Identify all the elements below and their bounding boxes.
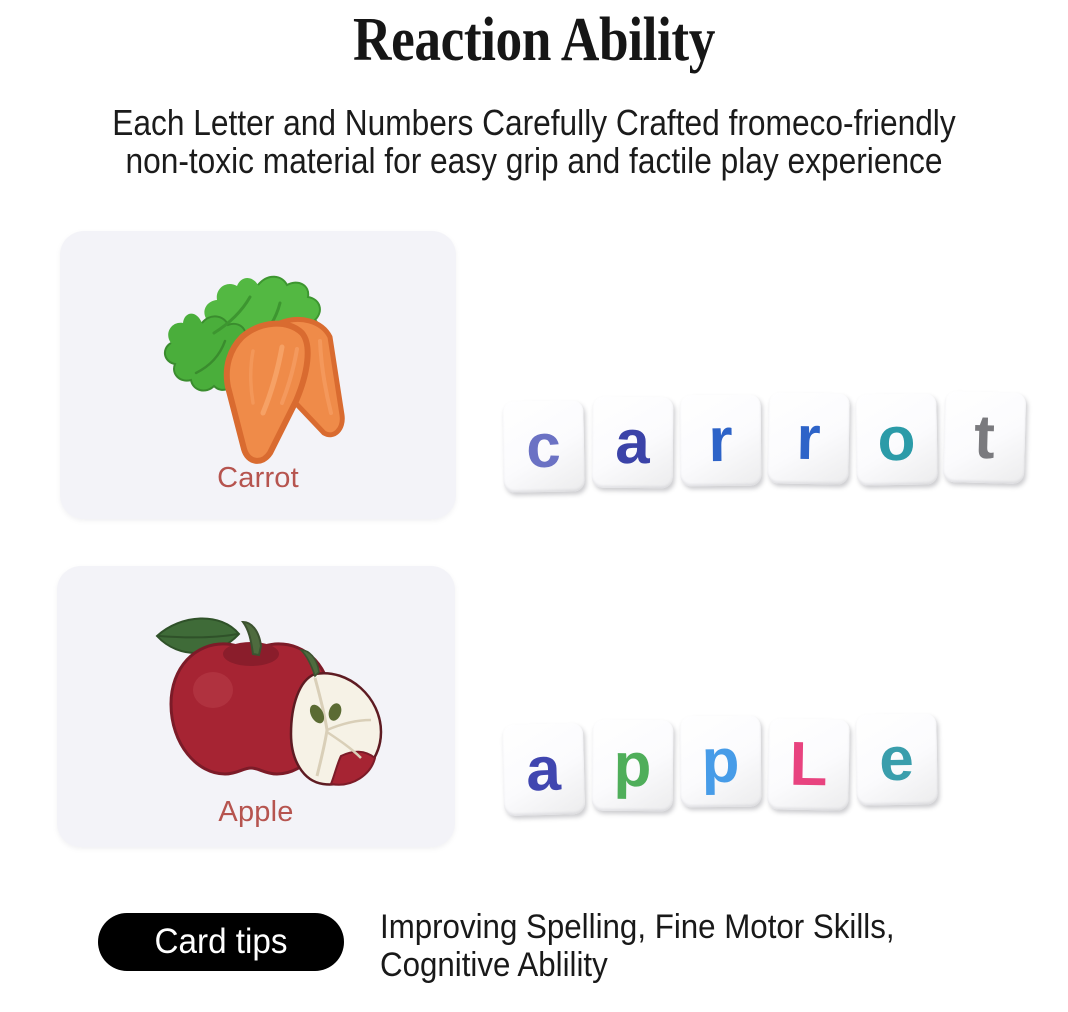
carrot-illustration-icon	[130, 263, 400, 473]
letter-glyph: p	[613, 734, 651, 796]
subtitle-line-2: non-toxic material for easy grip and fac…	[64, 142, 1004, 180]
card-tips-line-2: Cognitive Ablility	[380, 946, 987, 984]
letter-tile[interactable]: r	[680, 395, 762, 487]
page-title: Reaction Ability	[75, 8, 993, 73]
letter-tile[interactable]: p	[680, 716, 762, 808]
letter-tile-row-carrot: c a r r o t	[503, 392, 1033, 502]
letter-glyph: p	[701, 730, 739, 792]
letter-tile-row-apple: a p p L e	[503, 714, 953, 824]
apple-illustration-icon	[145, 598, 410, 808]
letter-tile[interactable]: o	[855, 393, 938, 485]
card-label-apple: Apple	[57, 796, 455, 829]
letter-tile[interactable]: L	[767, 718, 850, 810]
card-tips-line-1: Improving Spelling, Fine Motor Skills,	[380, 908, 987, 946]
card-tips-badge: Card tips	[98, 913, 344, 971]
flashcard-carrot[interactable]: Carrot	[60, 231, 456, 519]
letter-glyph: r	[796, 407, 821, 469]
letter-glyph: t	[973, 406, 995, 469]
subtitle-line-1: Each Letter and Numbers Carefully Crafte…	[64, 104, 1004, 142]
letter-glyph: r	[708, 409, 733, 471]
letter-tile[interactable]: p	[592, 720, 674, 812]
letter-tile[interactable]: r	[767, 392, 850, 484]
letter-tile[interactable]: a	[592, 397, 674, 489]
letter-tile[interactable]: t	[943, 391, 1026, 484]
letter-tile[interactable]: a	[502, 723, 585, 816]
letter-glyph: o	[877, 408, 916, 471]
letter-glyph: e	[879, 728, 915, 791]
card-tips-description: Improving Spelling, Fine Motor Skills, C…	[380, 908, 1040, 984]
card-label-carrot: Carrot	[60, 462, 456, 495]
letter-glyph: c	[526, 415, 562, 478]
letter-tile[interactable]: e	[855, 713, 938, 805]
letter-glyph: L	[789, 733, 828, 796]
flashcard-apple[interactable]: Apple	[57, 566, 455, 847]
card-tips-badge-label: Card tips	[154, 922, 287, 962]
page-subtitle: Each Letter and Numbers Carefully Crafte…	[0, 104, 1068, 180]
letter-tile[interactable]: c	[502, 400, 585, 492]
letter-glyph: a	[615, 411, 650, 473]
letter-glyph: a	[525, 738, 561, 801]
